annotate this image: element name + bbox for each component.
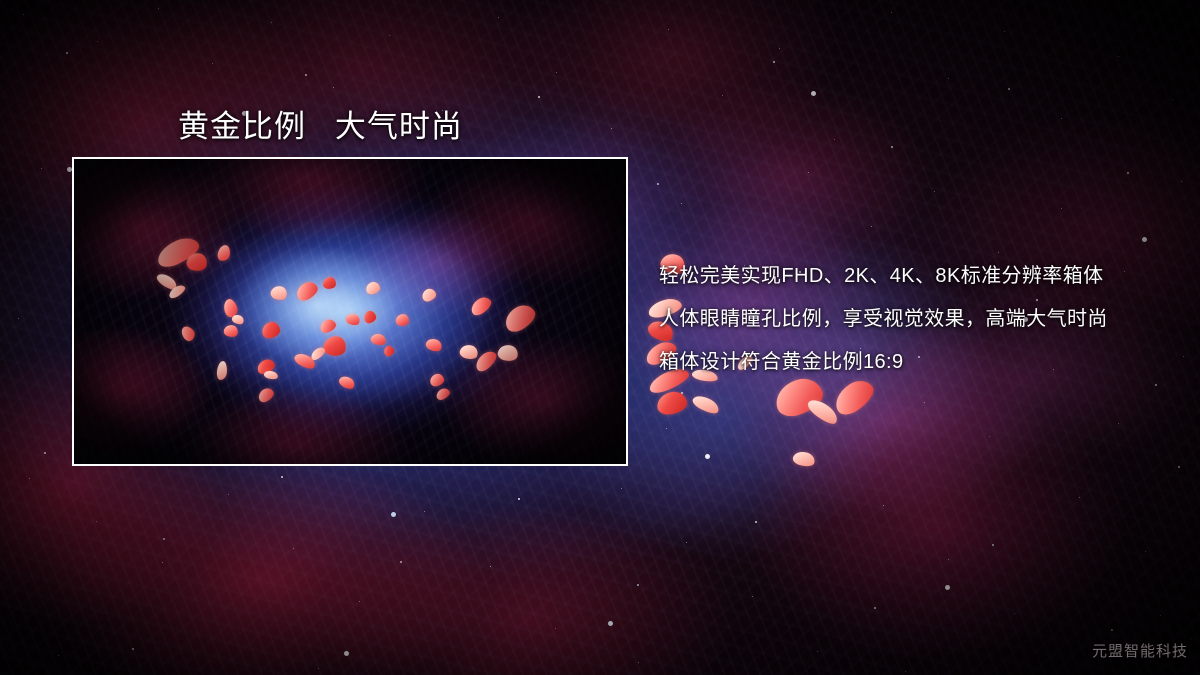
petal-decoration <box>216 361 227 381</box>
petal-decoration <box>472 348 499 374</box>
petal-decoration <box>222 323 239 339</box>
framed-nebula-red <box>74 159 626 464</box>
petal-decoration <box>256 386 276 404</box>
petal-decoration <box>468 294 494 318</box>
petal-decoration <box>337 374 356 392</box>
petal-decoration <box>222 297 240 318</box>
body-line-1: 轻松完美实现FHD、2K、4K、8K标准分辨率箱体 <box>659 255 1179 298</box>
petal-decoration <box>185 251 209 273</box>
petal-decoration <box>217 244 232 262</box>
petal-decoration <box>435 386 452 401</box>
body-line-3: 箱体设计符合黄金比例16:9 <box>659 341 1179 384</box>
slide-body-text: 轻松完美实现FHD、2K、4K、8K标准分辨率箱体 人体眼睛瞳孔比例，享受视觉效… <box>659 255 1179 384</box>
petal-decoration <box>691 392 722 417</box>
framed-image-vignette <box>74 159 626 464</box>
starfield-small-stars <box>0 0 1 1</box>
petal-decoration <box>322 333 349 358</box>
petal-decoration <box>791 449 816 469</box>
petal-decoration <box>292 350 317 371</box>
framed-nebula-wisp <box>74 159 626 464</box>
petal-decoration <box>179 324 198 343</box>
framed-image-content <box>74 159 626 464</box>
framed-nebula-blue <box>74 159 626 464</box>
framed-nebula-base <box>74 159 626 464</box>
slide-title: 黄金比例 大气时尚 <box>178 101 463 146</box>
petal-decoration <box>261 320 282 339</box>
framed-product-image <box>72 157 628 466</box>
petal-decoration <box>318 318 337 335</box>
watermark-label: 元盟智能科技 <box>1092 640 1188 661</box>
petal-decoration <box>153 233 202 271</box>
starfield-bright-stars <box>0 0 3 3</box>
petal-decoration <box>309 345 327 362</box>
petal-decoration <box>501 300 540 335</box>
petal-decoration <box>269 284 289 303</box>
petal-decoration <box>656 390 689 416</box>
petal-decoration <box>363 310 378 325</box>
petal-decoration <box>294 279 321 303</box>
body-line-2: 人体眼睛瞳孔比例，享受视觉效果，高端大气时尚 <box>659 298 1179 341</box>
petal-decoration <box>496 343 519 363</box>
petal-decoration <box>322 276 337 290</box>
petal-decoration <box>155 271 179 293</box>
starfield-medium-stars <box>0 0 2 2</box>
petal-decoration <box>458 343 479 362</box>
petal-decoration <box>395 313 410 327</box>
petal-decoration <box>429 372 445 387</box>
petal-decoration <box>365 281 381 295</box>
petal-decoration <box>420 287 437 303</box>
petal-decoration <box>263 369 279 380</box>
presentation-slide: 黄金比例 大气时尚 轻松完美实现FHD、2K、4K、8K标准分辨率箱体 人体眼睛… <box>0 0 1200 675</box>
petal-decoration <box>382 344 395 357</box>
petal-decoration <box>424 336 444 354</box>
petal-decoration <box>344 312 361 328</box>
petal-decoration <box>231 313 246 326</box>
petal-decoration <box>255 357 277 376</box>
petal-decoration <box>370 332 388 347</box>
petal-decoration <box>167 283 187 300</box>
petal-decoration <box>805 395 841 428</box>
